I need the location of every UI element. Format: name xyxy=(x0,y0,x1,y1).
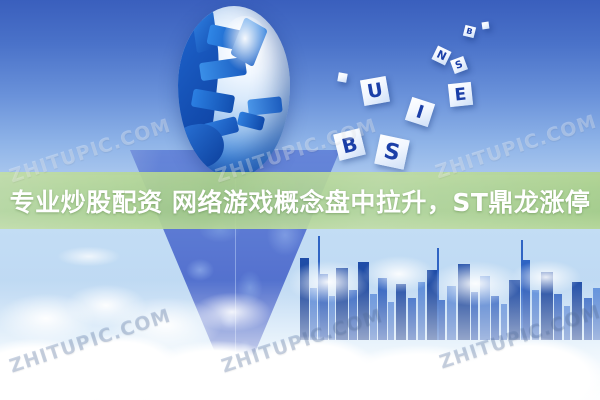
letter-tile-blank xyxy=(337,72,347,82)
letter-tile-blank xyxy=(482,22,490,30)
letter-tile-u: U xyxy=(360,76,390,106)
sky-upper-gradient xyxy=(0,0,600,175)
globe-highlight xyxy=(222,16,268,72)
cloud-bottom-bank xyxy=(0,280,600,400)
banner-image: BSUIENSB 专业炒股配资 网络游戏概念盘中拉升，ST鼎龙涨停 ZHITUP… xyxy=(0,0,600,400)
letter-tile-e: E xyxy=(448,82,473,107)
letter-tile-s: S xyxy=(374,134,410,170)
page-title: 专业炒股配资 网络游戏概念盘中拉升，ST鼎龙涨停 xyxy=(0,172,600,229)
cloud-small-top xyxy=(6,236,186,270)
